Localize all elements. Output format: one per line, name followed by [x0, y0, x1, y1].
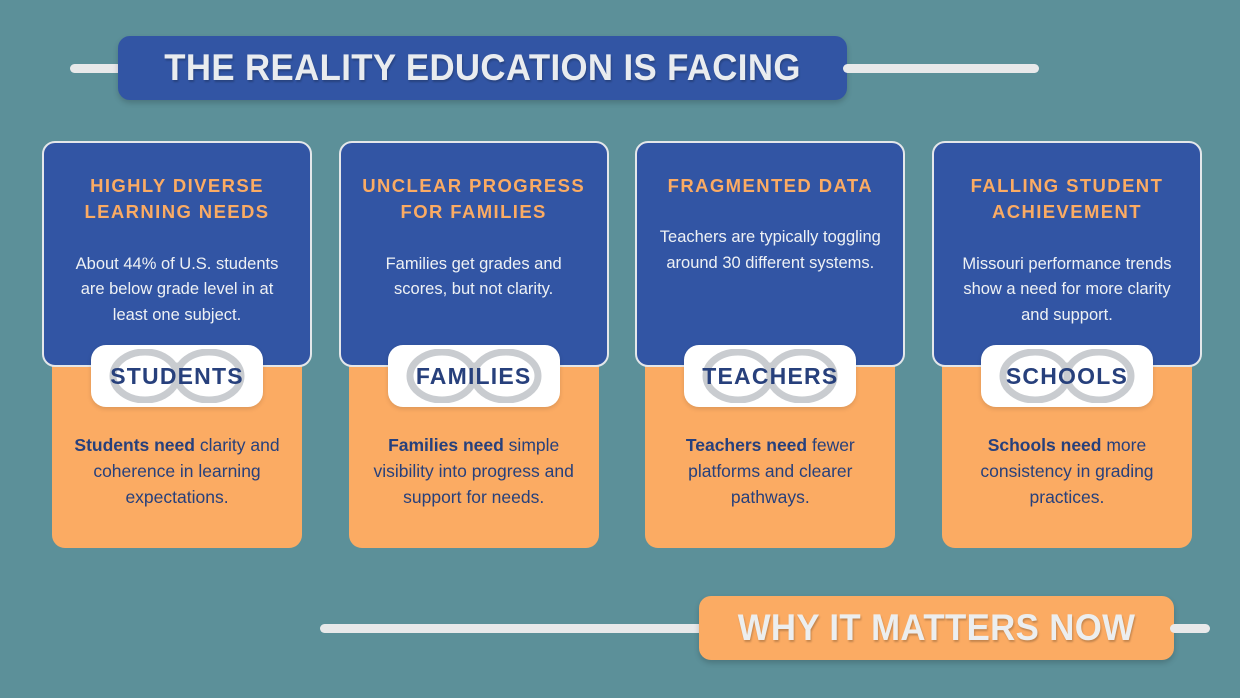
badge-schools: SCHOOLS — [981, 345, 1153, 407]
card-need-bold: Families need — [388, 435, 504, 455]
card-top-panel: FRAGMENTED DATA Teachers are typically t… — [635, 141, 905, 367]
card-heading: HIGHLY DIVERSE LEARNING NEEDS — [62, 173, 292, 226]
card-need-text: Schools need more consistency in grading… — [958, 433, 1176, 511]
footer-rule-left — [320, 624, 703, 633]
badge-families: FAMILIES — [388, 345, 560, 407]
card-top-panel: HIGHLY DIVERSE LEARNING NEEDS About 44% … — [42, 141, 312, 367]
cards-container: HIGHLY DIVERSE LEARNING NEEDS About 44% … — [42, 141, 1202, 548]
card-top-panel: FALLING STUDENT ACHIEVEMENT Missouri per… — [932, 141, 1202, 367]
badge-label: STUDENTS — [110, 363, 244, 390]
card-top-panel: UNCLEAR PROGRESS FOR FAMILIES Families g… — [339, 141, 609, 367]
card-stat-text: Missouri performance trends show a need … — [952, 252, 1182, 329]
card-need-bold: Schools need — [988, 435, 1102, 455]
card-stat-text: About 44% of U.S. students are below gra… — [62, 252, 292, 329]
card-need-text: Teachers need fewer platforms and cleare… — [661, 433, 879, 511]
card-need-text: Students need clarity and coherence in l… — [68, 433, 286, 511]
card-students: HIGHLY DIVERSE LEARNING NEEDS About 44% … — [42, 141, 312, 548]
header-banner-row: THE REALITY EDUCATION IS FACING — [0, 36, 1240, 100]
card-schools: FALLING STUDENT ACHIEVEMENT Missouri per… — [932, 141, 1202, 548]
badge-label: TEACHERS — [702, 363, 838, 390]
card-families: UNCLEAR PROGRESS FOR FAMILIES Families g… — [339, 141, 609, 548]
card-stat-text: Families get grades and scores, but not … — [359, 252, 589, 303]
card-need-bold: Teachers need — [686, 435, 807, 455]
card-heading: FRAGMENTED DATA — [655, 173, 885, 199]
header-rule-left — [70, 64, 122, 73]
card-need-bold: Students need — [74, 435, 195, 455]
header-banner: THE REALITY EDUCATION IS FACING — [118, 36, 847, 100]
footer-title: WHY IT MATTERS NOW — [738, 607, 1136, 649]
card-teachers: FRAGMENTED DATA Teachers are typically t… — [635, 141, 905, 548]
footer-banner-row: WHY IT MATTERS NOW — [0, 596, 1240, 660]
card-need-text: Families need simple visibility into pro… — [365, 433, 583, 511]
card-heading: UNCLEAR PROGRESS FOR FAMILIES — [359, 173, 589, 226]
footer-rule-right — [1170, 624, 1210, 633]
badge-students: STUDENTS — [91, 345, 263, 407]
footer-banner: WHY IT MATTERS NOW — [699, 596, 1174, 660]
header-rule-right — [843, 64, 1039, 73]
badge-teachers: TEACHERS — [684, 345, 856, 407]
card-heading: FALLING STUDENT ACHIEVEMENT — [952, 173, 1182, 226]
badge-label: SCHOOLS — [1006, 363, 1128, 390]
badge-label: FAMILIES — [416, 363, 532, 390]
page-title: THE REALITY EDUCATION IS FACING — [164, 47, 800, 89]
card-stat-text: Teachers are typically toggling around 3… — [655, 225, 885, 276]
